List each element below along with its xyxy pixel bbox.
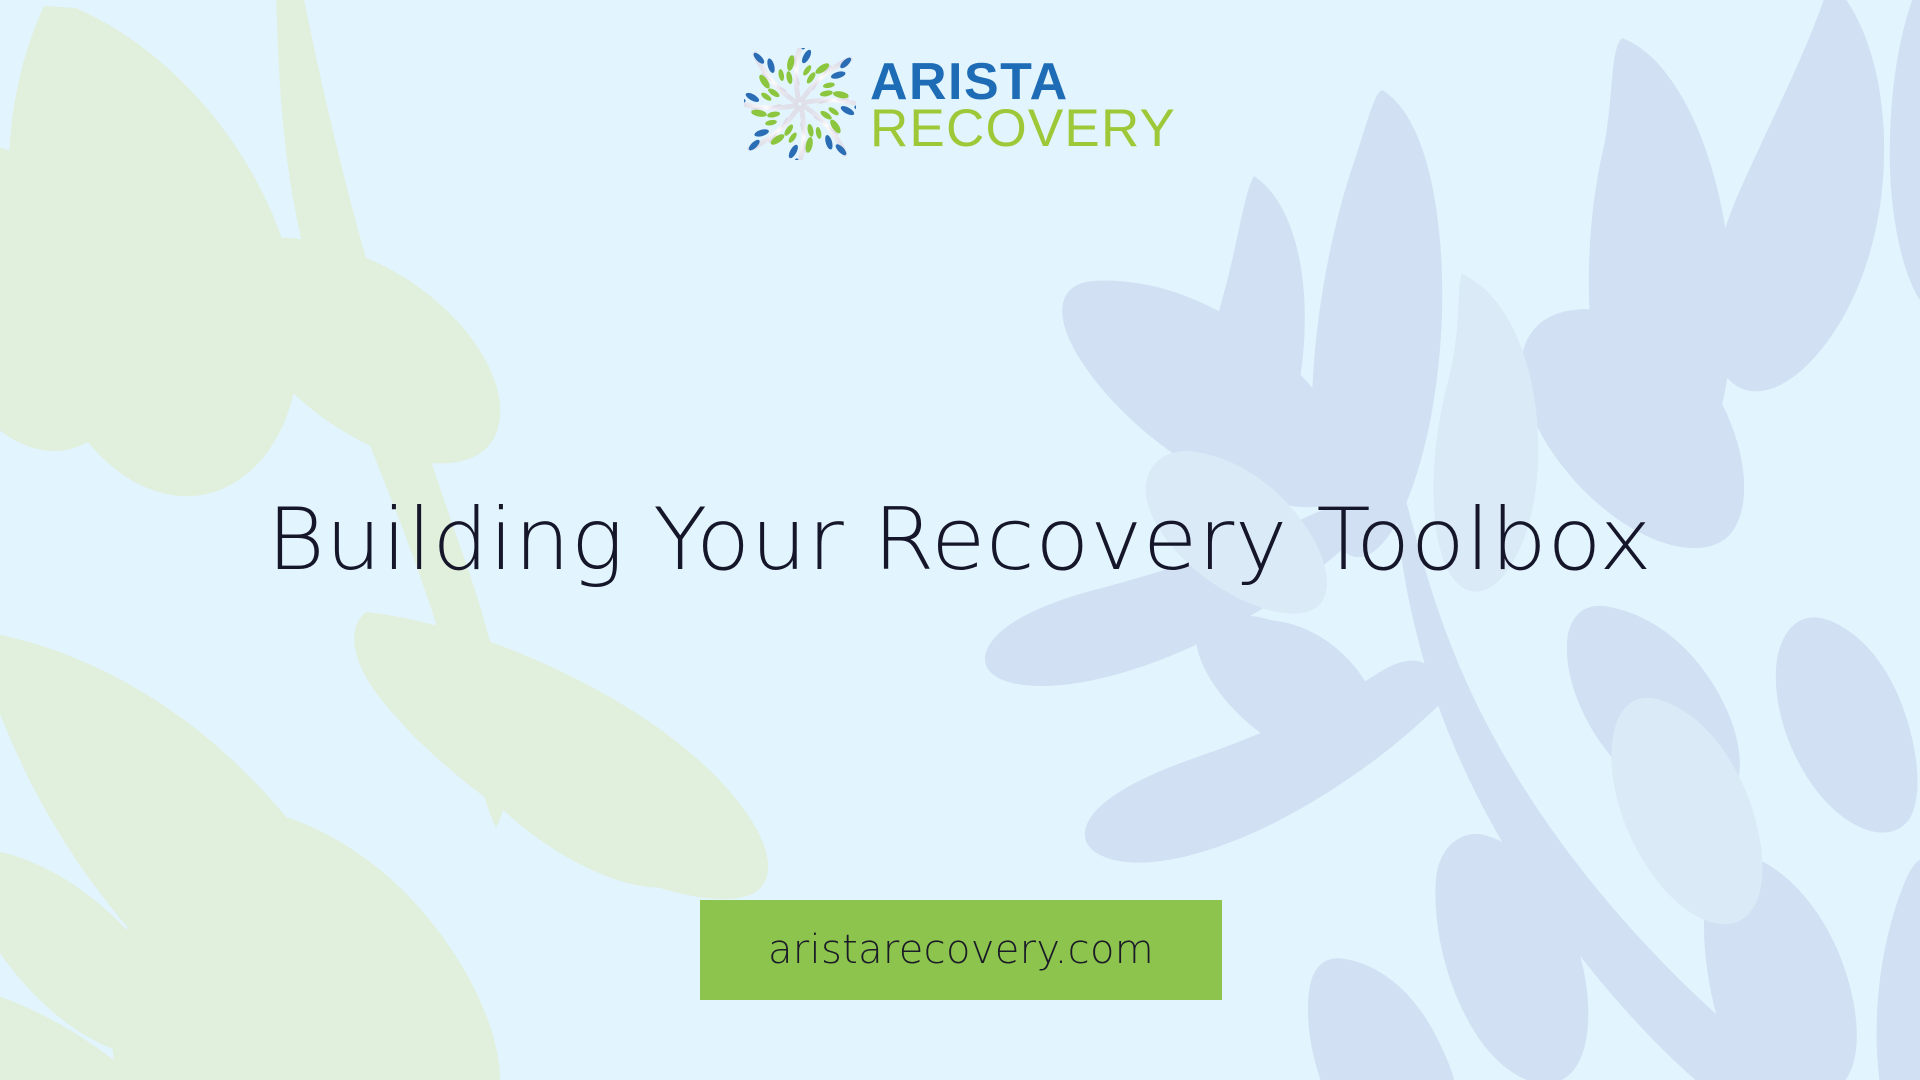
arista-pinwheel-tree-icon: [744, 48, 856, 160]
website-url-label: aristarecovery.com: [768, 927, 1154, 973]
brand-wordmark: ARISTA RECOVERY: [870, 55, 1176, 154]
page-title: Building Your Recovery Toolbox: [267, 490, 1652, 590]
brand-name-secondary: RECOVERY: [870, 105, 1176, 154]
website-cta-button[interactable]: aristarecovery.com: [700, 900, 1222, 1000]
presentation-slide: ARISTA RECOVERY Building Your Recovery T…: [0, 0, 1920, 1080]
brand-logo[interactable]: ARISTA RECOVERY: [744, 48, 1176, 160]
